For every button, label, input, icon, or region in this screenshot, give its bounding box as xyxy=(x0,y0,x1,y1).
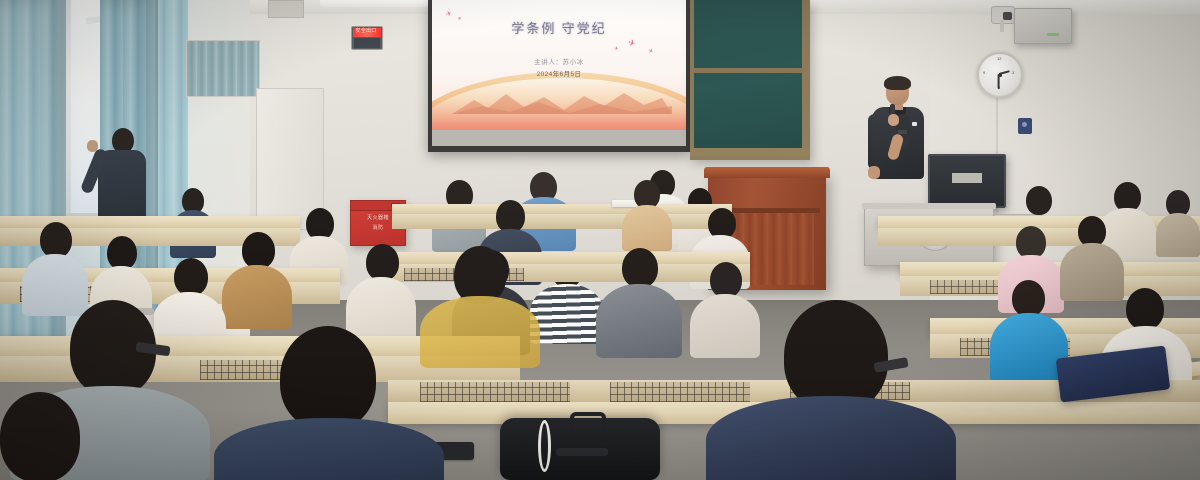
presenter-hand xyxy=(888,114,899,126)
ceiling-light xyxy=(320,0,440,7)
console-monitor[interactable] xyxy=(928,154,1006,208)
presenter-shirt-logo xyxy=(912,122,917,126)
attendee xyxy=(1060,216,1124,298)
projected-slide: 学条例 守党纪 主讲人：苏小冰 2024年6月5日 ✈ ✈ ✈ ✈ ✈ xyxy=(432,0,686,130)
slide-presenter: 主讲人：苏小冰 xyxy=(432,56,686,66)
clock-center-pin xyxy=(999,74,1002,77)
presenter-hair xyxy=(884,76,911,90)
slide-mountain-silhouette xyxy=(452,88,672,114)
upper-wall-vent xyxy=(268,0,304,18)
projector-led-icon xyxy=(1047,33,1059,36)
clock-tick: 9 xyxy=(983,70,985,75)
wall-louver-vent xyxy=(186,40,260,97)
chalkboard-surface xyxy=(694,0,802,148)
screen-bottom-frame xyxy=(428,146,690,152)
bag-strap-icon xyxy=(538,420,551,472)
lectern-top xyxy=(704,167,830,178)
classroom-photo: 安全出口 学条例 守党纪 主讲人：苏小冰 2024年6月5日 ✈ ✈ ✈ ✈ ✈ xyxy=(0,0,1200,480)
wall-projector-unit xyxy=(1014,8,1072,44)
presenter xyxy=(868,78,926,208)
attendee xyxy=(596,248,682,356)
clock-tick: 12 xyxy=(997,56,1001,61)
camera-lens-icon xyxy=(1003,12,1012,20)
chalkboard-tray xyxy=(690,148,810,156)
chalkboard-rail xyxy=(694,68,802,73)
desk-front-panel xyxy=(392,214,732,229)
wristwatch-icon xyxy=(898,130,907,134)
attendee-foreground xyxy=(706,300,956,480)
attendee xyxy=(622,180,672,250)
chalkboard xyxy=(690,0,810,160)
bag-handle xyxy=(570,412,606,432)
console-top-surface xyxy=(862,203,996,209)
exit-sign: 安全出口 xyxy=(351,26,383,50)
slide-date: 2024年6月5日 xyxy=(432,68,686,78)
exit-sign-text: 安全出口 xyxy=(352,27,380,36)
duffel-bag xyxy=(500,418,660,480)
attendee xyxy=(420,246,540,366)
exit-sign-panel xyxy=(354,38,380,48)
panel-indicator-icon xyxy=(1022,122,1027,127)
attendee-foreground xyxy=(214,326,444,480)
presenter-left-hand xyxy=(868,166,880,179)
slide-title: 学条例 守党纪 xyxy=(432,18,686,37)
attendee-foreground xyxy=(0,392,120,480)
desk-row xyxy=(392,204,732,214)
attendee xyxy=(222,232,292,328)
camera-mount xyxy=(1000,20,1004,32)
wall-clock: 12 3 6 9 xyxy=(977,52,1023,98)
projector-screen: 学条例 守党纪 主讲人：苏小冰 2024年6月5日 ✈ ✈ ✈ ✈ ✈ xyxy=(428,0,690,152)
monitor-bezel-strip xyxy=(952,173,982,183)
wall-control-panel[interactable] xyxy=(1018,118,1032,134)
clock-tick: 3 xyxy=(1012,70,1014,75)
bag-zipper xyxy=(556,448,608,456)
attendee xyxy=(1156,190,1200,256)
